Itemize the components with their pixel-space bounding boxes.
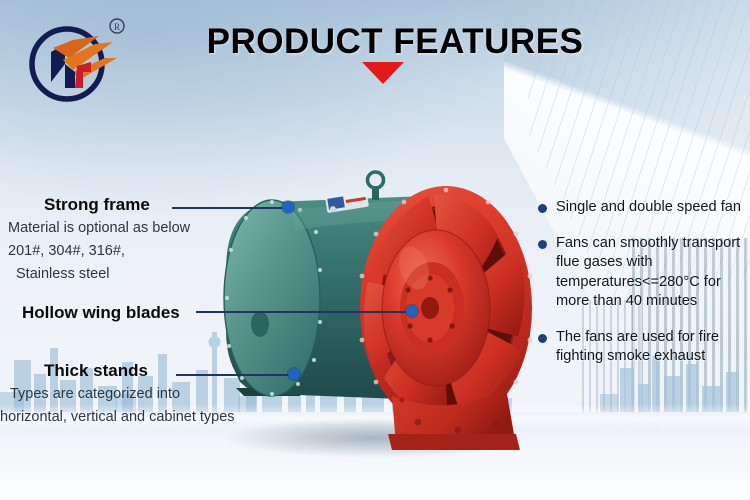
list-item: Fans can smoothly transport flue gases w…	[538, 234, 750, 312]
bullet-text: Single and double speed fan	[556, 199, 741, 215]
annotation-hollow-wing-blades: Hollow wing blades	[22, 303, 180, 323]
annotation-title: Hollow wing blades	[22, 303, 180, 323]
callout-dot-icon	[288, 368, 300, 380]
product-features-banner: R PRODUCT FEATURES	[0, 0, 750, 500]
lifting-eye-hook-icon	[368, 172, 384, 200]
axial-flow-fan-image	[196, 150, 546, 460]
list-item: The fans are used for fire fighting smok…	[538, 328, 750, 367]
registered-trademark-icon: R	[110, 19, 124, 33]
annotation-title: Strong frame	[44, 195, 190, 215]
red-down-triangle-icon	[362, 62, 404, 84]
annotation-thick-stands: Thick stands Types are categorized into …	[44, 361, 235, 427]
callout-dot-icon	[282, 201, 294, 213]
bullet-dot-icon	[538, 334, 547, 343]
annotation-body-line: Stainless steel	[16, 265, 190, 284]
annotation-body-line: 201#, 304#, 316#,	[8, 242, 190, 261]
bullet-text: The fans are used for fire fighting smok…	[556, 329, 719, 365]
bullet-text: Fans can smoothly transport flue gases w…	[556, 235, 740, 310]
connector-line-strong-frame	[172, 207, 288, 209]
brand-logo: R	[21, 14, 133, 106]
bullet-dot-icon	[538, 240, 547, 249]
annotation-title: Thick stands	[44, 361, 235, 381]
annotation-body-line: Material is optional as below	[8, 219, 190, 238]
annotation-strong-frame: Strong frame Material is optional as bel…	[44, 195, 190, 284]
svg-text:R: R	[114, 22, 120, 32]
annotation-body-line: horizontal, vertical and cabinet types	[0, 408, 235, 427]
callout-dot-icon	[406, 305, 418, 317]
bullet-dot-icon	[538, 204, 547, 213]
connector-line-thick-stands	[176, 374, 294, 376]
feature-bullet-list: Single and double speed fan Fans can smo…	[538, 198, 750, 383]
list-item: Single and double speed fan	[538, 198, 750, 218]
connector-line-hollow-wing-blades	[196, 311, 414, 313]
annotation-body-line: Types are categorized into	[10, 385, 235, 404]
page-title: PRODUCT FEATURES	[185, 22, 605, 62]
